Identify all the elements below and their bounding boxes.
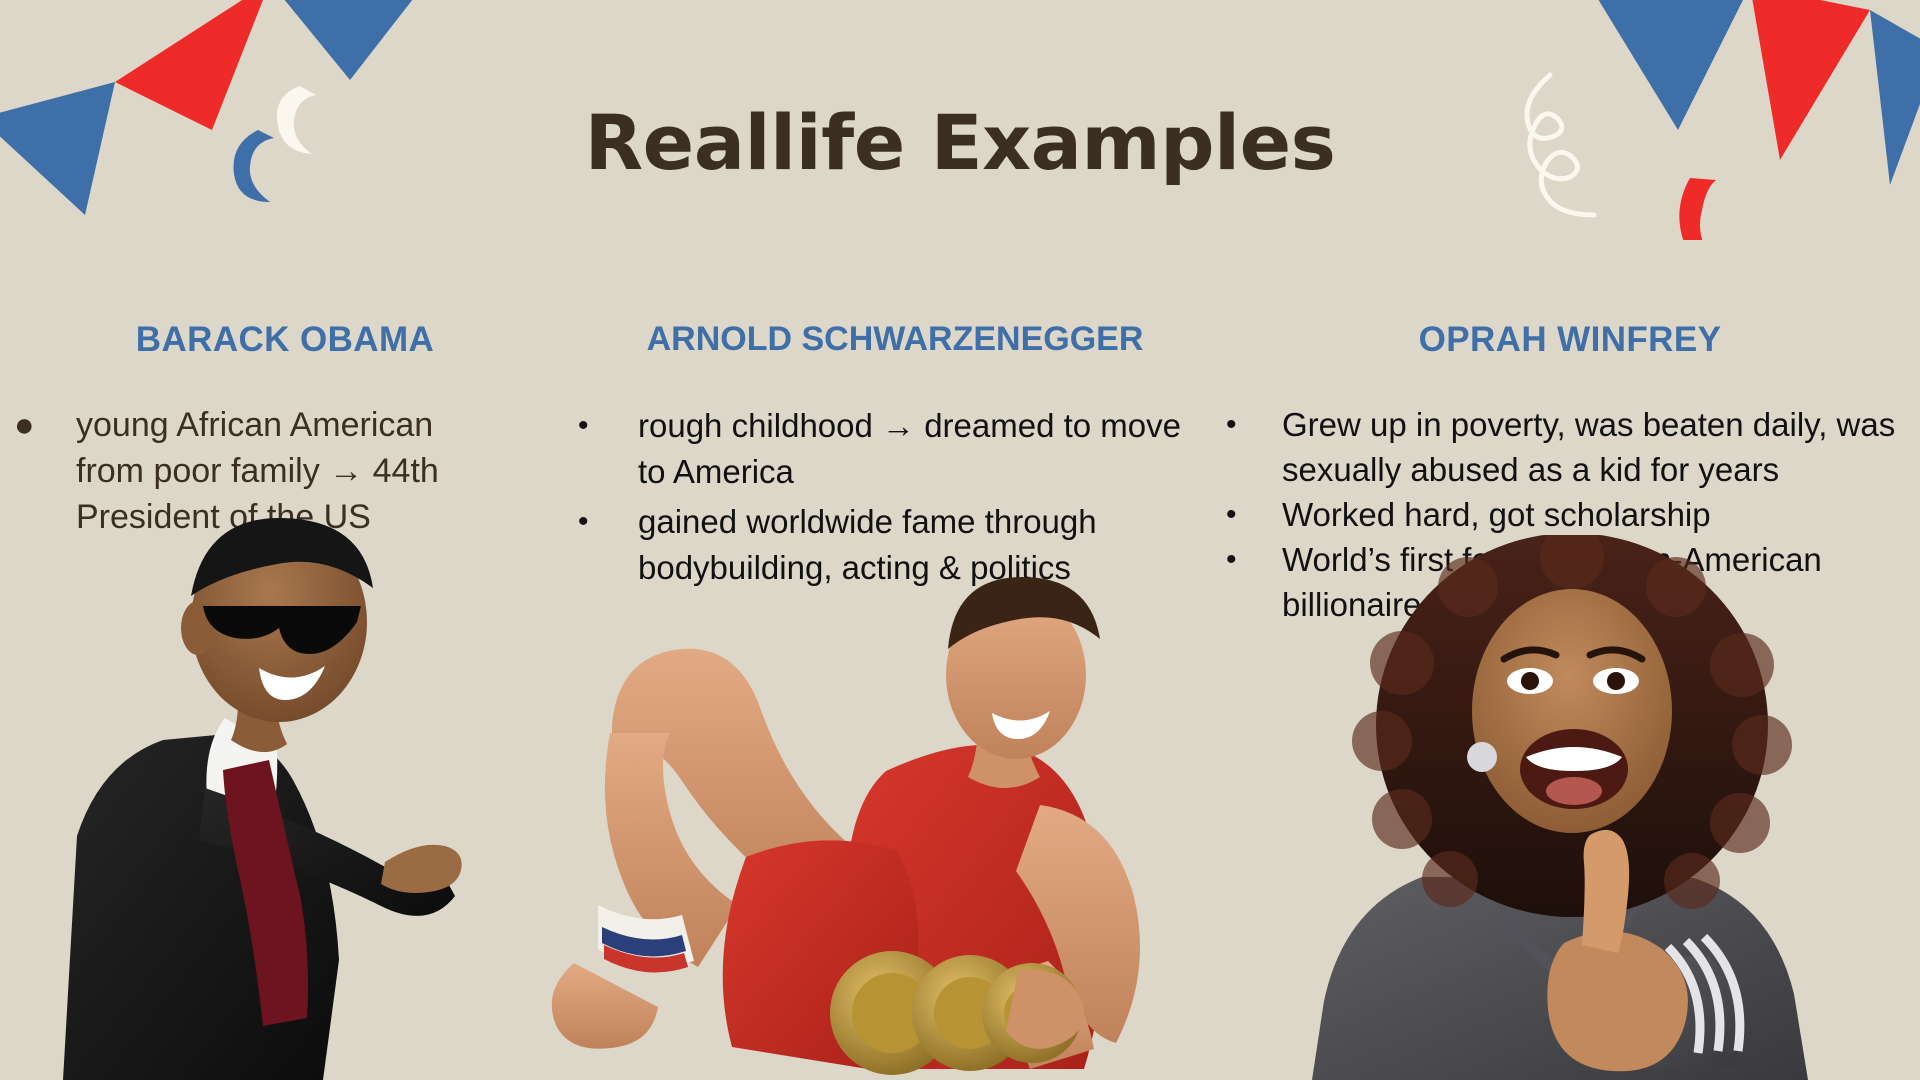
list-item: • Grew up in poverty, was beaten daily, … xyxy=(1226,402,1920,492)
bullet-text: Grew up in poverty, was beaten daily, wa… xyxy=(1282,402,1912,492)
examples-columns: BARACK OBAMA ● young African American fr… xyxy=(0,320,1920,1080)
bullet-dot-icon: • xyxy=(578,403,638,449)
column-header-arnold: ARNOLD SCHWARZENEGGER xyxy=(570,320,1220,359)
bullet-list-arnold: • rough childhood → dreamed to move to A… xyxy=(570,403,1220,591)
column-header-oprah: OPRAH WINFREY xyxy=(1220,320,1920,360)
bullet-dot-icon: • xyxy=(1226,537,1282,582)
bullet-dot-icon: • xyxy=(578,499,638,545)
page-title: Reallife Examples xyxy=(0,98,1920,187)
arnold-schwarzenegger-photo xyxy=(540,575,1220,1080)
thumbs-up-icon xyxy=(1582,830,1629,953)
bullet-text: rough childhood → dreamed to move to Ame… xyxy=(638,403,1198,495)
barack-obama-photo xyxy=(55,510,495,1080)
bullet-dot-icon: • xyxy=(1226,402,1282,447)
bunting-triangle-blue-2 xyxy=(270,0,420,80)
column-header-obama: BARACK OBAMA xyxy=(0,320,570,360)
column-arnold: ARNOLD SCHWARZENEGGER • rough childhood … xyxy=(570,320,1220,1080)
column-oprah: OPRAH WINFREY • Grew up in poverty, was … xyxy=(1220,320,1920,1080)
list-item: • Worked hard, got scholarship xyxy=(1226,492,1920,537)
oprah-tongue xyxy=(1546,777,1602,805)
bullet-dot-icon: • xyxy=(1226,492,1282,537)
list-item: • rough childhood → dreamed to move to A… xyxy=(578,403,1220,495)
crescent-red-icon xyxy=(1679,178,1716,240)
oprah-earring xyxy=(1467,742,1497,772)
oprah-winfrey-photo xyxy=(1290,535,1850,1080)
obama-hand xyxy=(381,845,462,893)
column-obama: BARACK OBAMA ● young African American fr… xyxy=(0,320,570,1080)
arnold-foot xyxy=(552,963,658,1049)
bullet-dot-icon: ● xyxy=(14,402,76,448)
bullet-text: Worked hard, got scholarship xyxy=(1282,492,1912,537)
